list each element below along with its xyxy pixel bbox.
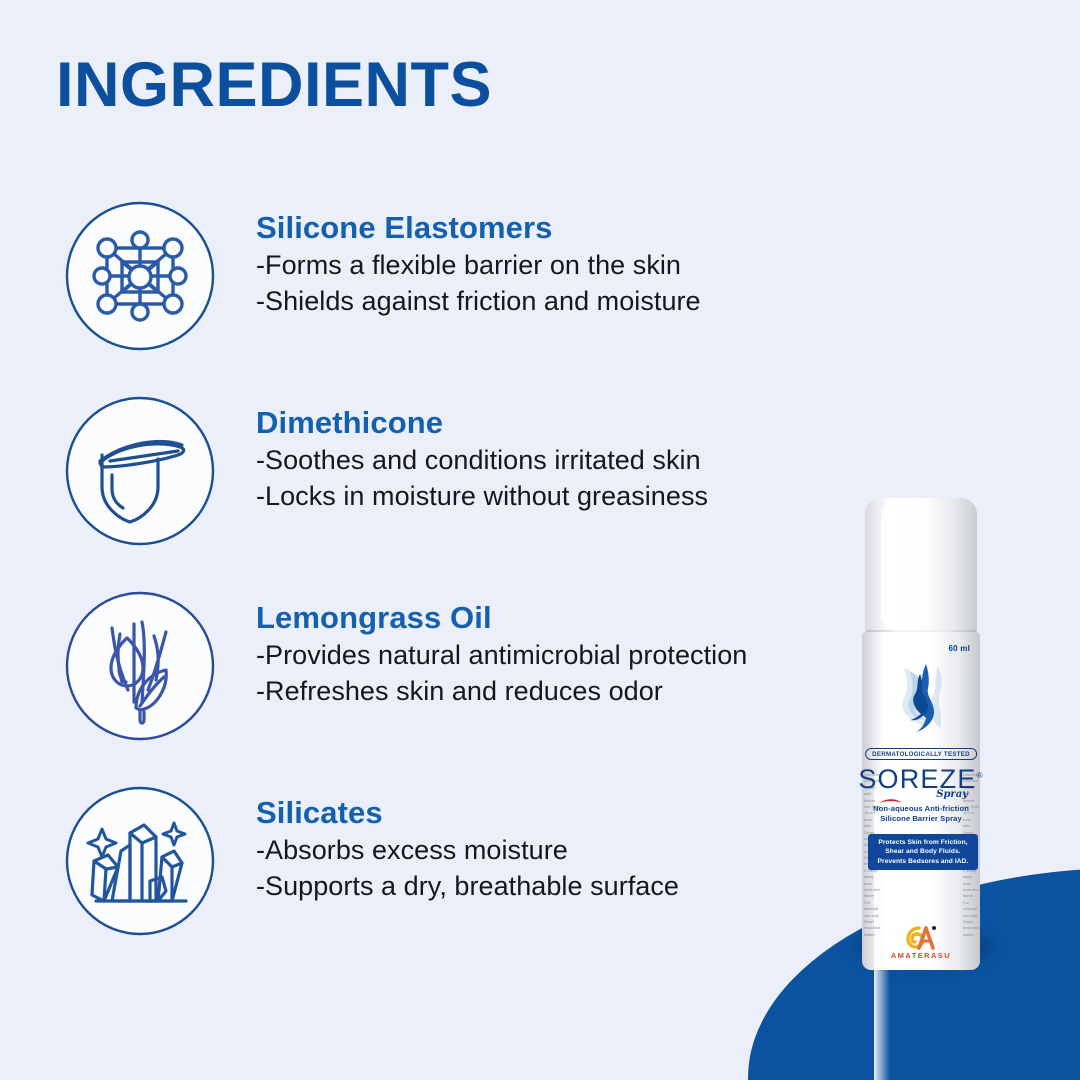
ingredient-row: Lemongrass Oil -Provides natural antimic… bbox=[0, 586, 870, 781]
ingredient-benefit: -Shields against friction and moisture bbox=[256, 284, 856, 320]
ingredient-row: Silicone Elastomers -Forms a flexible ba… bbox=[0, 196, 870, 391]
molecule-network-icon bbox=[64, 200, 216, 352]
shield-skin-icon bbox=[64, 395, 216, 547]
cap-highlight bbox=[881, 506, 903, 626]
ingredient-benefit: -Forms a flexible barrier on the skin bbox=[256, 248, 856, 284]
ingredient-row: Dimethicone -Soothes and conditions irri… bbox=[0, 391, 870, 586]
ingredient-name: Lemongrass Oil bbox=[256, 600, 856, 636]
ingredient-text-block: Silicone Elastomers -Forms a flexible ba… bbox=[256, 210, 856, 320]
ingredient-text-block: Lemongrass Oil -Provides natural antimic… bbox=[256, 600, 856, 710]
claim-line: Prevents Bedsores and IAD. bbox=[870, 857, 976, 866]
ingredient-benefit: -Supports a dry, breathable surface bbox=[256, 869, 856, 905]
bottle-cap bbox=[865, 498, 977, 636]
soreze-flame-logo-icon bbox=[890, 656, 952, 738]
ingredient-benefit: -Soothes and conditions irritated skin bbox=[256, 443, 856, 479]
product-tagline: Non-aqueous Anti-friction Silicone Barri… bbox=[862, 804, 980, 825]
ingredient-benefit: -Refreshes skin and reduces odor bbox=[256, 674, 856, 710]
ingredient-text-block: Silicates -Absorbs excess moisture -Supp… bbox=[256, 795, 856, 905]
trademark-symbol: ® bbox=[977, 771, 984, 780]
tagline-line-2: Silicone Barrier Spray bbox=[862, 814, 980, 824]
ingredient-name: Dimethicone bbox=[256, 405, 856, 441]
variant-label: Spray bbox=[936, 789, 968, 800]
company-logo: AMATERASU bbox=[862, 924, 980, 960]
red-swoosh-icon bbox=[880, 792, 902, 799]
tagline-line-1: Non-aqueous Anti-friction bbox=[862, 804, 980, 814]
claim-line: Protects Skin from Friction, bbox=[870, 838, 976, 847]
company-name: AMATERASU bbox=[862, 951, 980, 960]
amaterasu-mark-icon bbox=[903, 924, 939, 950]
ingredient-name: Silicates bbox=[256, 795, 856, 831]
ingredient-row: Silicates -Absorbs excess moisture -Supp… bbox=[0, 781, 870, 976]
marketing-image-canvas: INGREDIENTS bbox=[0, 0, 1080, 1080]
ingredient-text-block: Dimethicone -Soothes and conditions irri… bbox=[256, 405, 856, 515]
crystals-icon bbox=[64, 785, 216, 937]
ingredients-list: Silicone Elastomers -Forms a flexible ba… bbox=[0, 196, 870, 976]
ingredient-benefit: -Locks in moisture without greasiness bbox=[256, 479, 856, 515]
bottle-body: Directions for use Shake well before use… bbox=[862, 632, 980, 970]
volume-label: 60 ml bbox=[949, 644, 970, 653]
ingredient-benefit: -Provides natural antimicrobial protecti… bbox=[256, 638, 856, 674]
product-claims-box: Protects Skin from Friction, Shear and B… bbox=[868, 834, 978, 870]
page-title: INGREDIENTS bbox=[56, 52, 492, 118]
dermatologically-tested-badge: DERMATOLOGICALLY TESTED bbox=[865, 748, 977, 760]
ingredient-name: Silicone Elastomers bbox=[256, 210, 856, 246]
lemongrass-droplet-icon bbox=[64, 590, 216, 742]
claim-line: Shear and Body Fluids. bbox=[870, 847, 976, 856]
ingredient-benefit: -Absorbs excess moisture bbox=[256, 833, 856, 869]
product-bottle: Directions for use Shake well before use… bbox=[862, 498, 980, 970]
